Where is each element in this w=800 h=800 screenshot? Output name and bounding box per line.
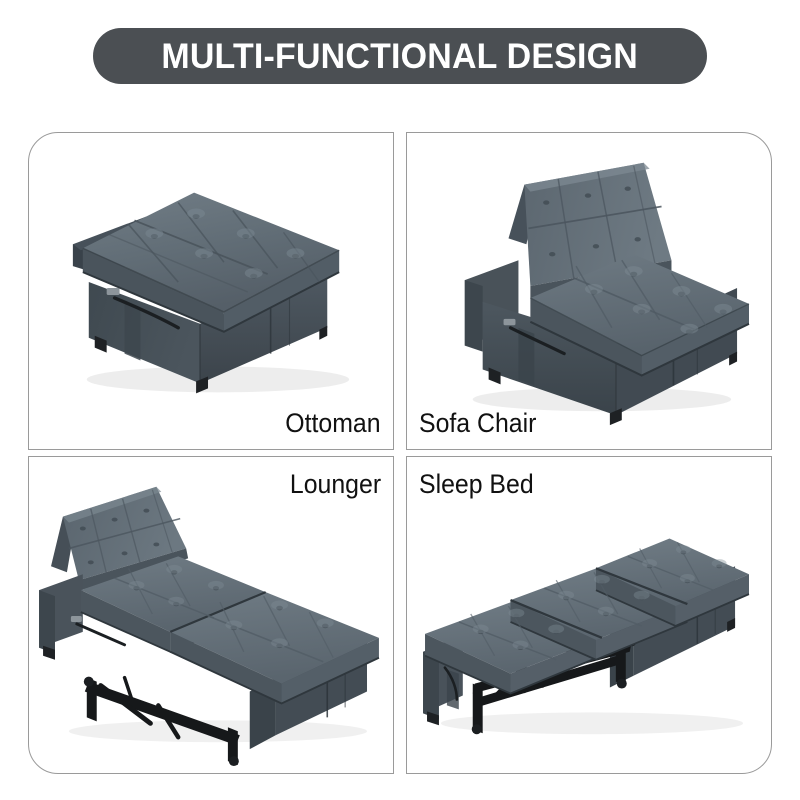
header-banner-area: MULTI-FUNCTIONAL DESIGN: [0, 0, 800, 112]
panel-sofa-chair[interactable]: Sofa Chair: [406, 132, 772, 450]
panel-label-lounger: Lounger: [290, 471, 381, 498]
sleep-bed-illustration: [407, 457, 771, 773]
panel-sleep-bed[interactable]: Sleep Bed: [406, 456, 772, 774]
panel-label-sofa-chair: Sofa Chair: [419, 410, 536, 437]
panel-lounger[interactable]: Lounger: [28, 456, 394, 774]
lounger-illustration: [29, 457, 393, 773]
panel-label-sleep-bed: Sleep Bed: [419, 471, 534, 498]
panel-label-ottoman: Ottoman: [286, 410, 381, 437]
panel-ottoman[interactable]: Ottoman: [28, 132, 394, 450]
configuration-grid: Ottoman: [28, 132, 772, 774]
page-title: MULTI-FUNCTIONAL DESIGN: [162, 39, 639, 74]
header-banner: MULTI-FUNCTIONAL DESIGN: [93, 28, 707, 84]
sofa-chair-illustration: [407, 133, 771, 449]
ottoman-illustration: [29, 133, 393, 449]
